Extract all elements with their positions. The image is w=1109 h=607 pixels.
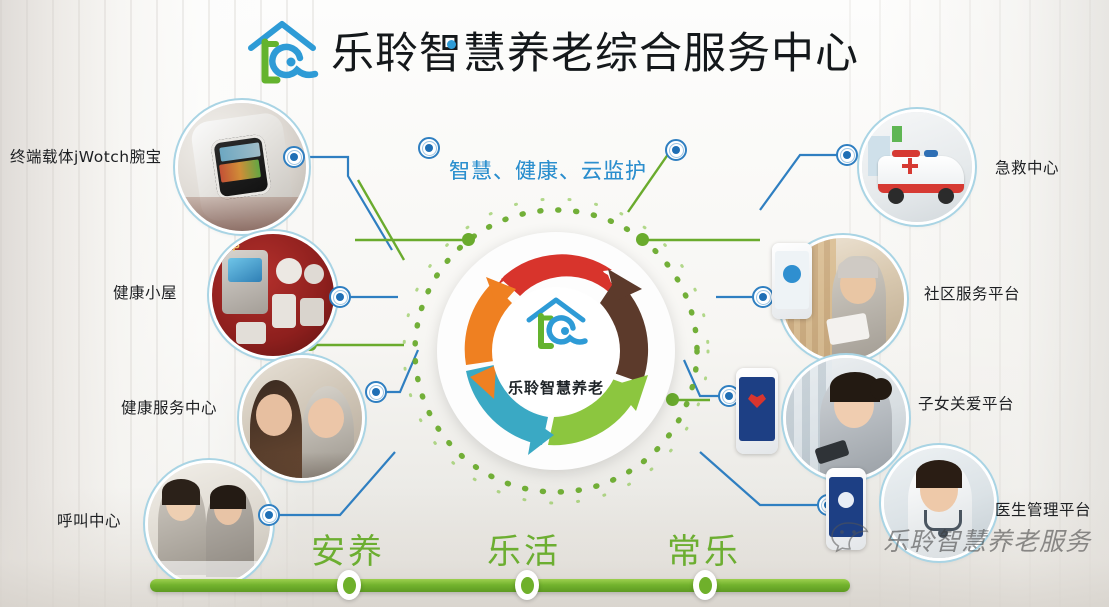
watermark: 乐聆智慧养老服务 — [830, 520, 1091, 559]
ambulance-photo — [862, 112, 972, 222]
wechat-icon — [830, 520, 876, 559]
bottom-green-bar — [150, 579, 850, 592]
left-label-2: 健康服务中心 — [121, 396, 217, 418]
connector-node-right-0[interactable] — [836, 144, 858, 166]
poster-canvas: 乐聆智慧养老综合服务中心 智慧、健康、云监护 — [0, 0, 1109, 607]
connector-node-left-3[interactable] — [258, 504, 280, 526]
wheel-center-label: 乐聆智慧养老 — [508, 377, 604, 398]
connector-node-right-1[interactable] — [752, 286, 774, 308]
house-leaf-logo-icon — [517, 294, 595, 356]
left-label-0: 终端载体jWotch腕宝 — [10, 145, 162, 167]
right-label-3: 医生管理平台 — [995, 498, 1091, 520]
connector-node-left-2[interactable] — [365, 381, 387, 403]
health-kiosk-photo: VIP — [212, 234, 334, 356]
bar-node-0[interactable] — [337, 570, 361, 600]
right-label-0: 急救中心 — [995, 156, 1059, 178]
connector-node-top-left[interactable] — [418, 137, 440, 159]
watermark-text: 乐聆智慧养老服务 — [883, 522, 1091, 558]
connector-node-left-1[interactable] — [329, 286, 351, 308]
right-label-1: 社区服务平台 — [924, 282, 1020, 304]
left-label-1: 健康小屋 — [113, 281, 177, 303]
phone-children-care-mockup — [736, 368, 778, 454]
bar-node-1[interactable] — [515, 570, 539, 600]
bar-node-2[interactable] — [693, 570, 717, 600]
caregiver-elderly-photo — [242, 358, 362, 478]
left-label-3: 呼叫中心 — [57, 509, 121, 531]
keyword-1: 乐活 — [487, 524, 561, 573]
smartwatch-photo — [178, 103, 306, 231]
right-label-2: 子女关爱平台 — [918, 392, 1014, 414]
call-center-photo — [148, 463, 270, 585]
keyword-0: 安养 — [311, 524, 385, 573]
central-wheel: 乐聆智慧养老 — [437, 232, 675, 470]
connector-node-left-0[interactable] — [283, 146, 305, 168]
phone-community-mockup — [772, 243, 812, 319]
keyword-2: 常乐 — [667, 524, 741, 573]
connector-node-top-right[interactable] — [665, 139, 687, 161]
